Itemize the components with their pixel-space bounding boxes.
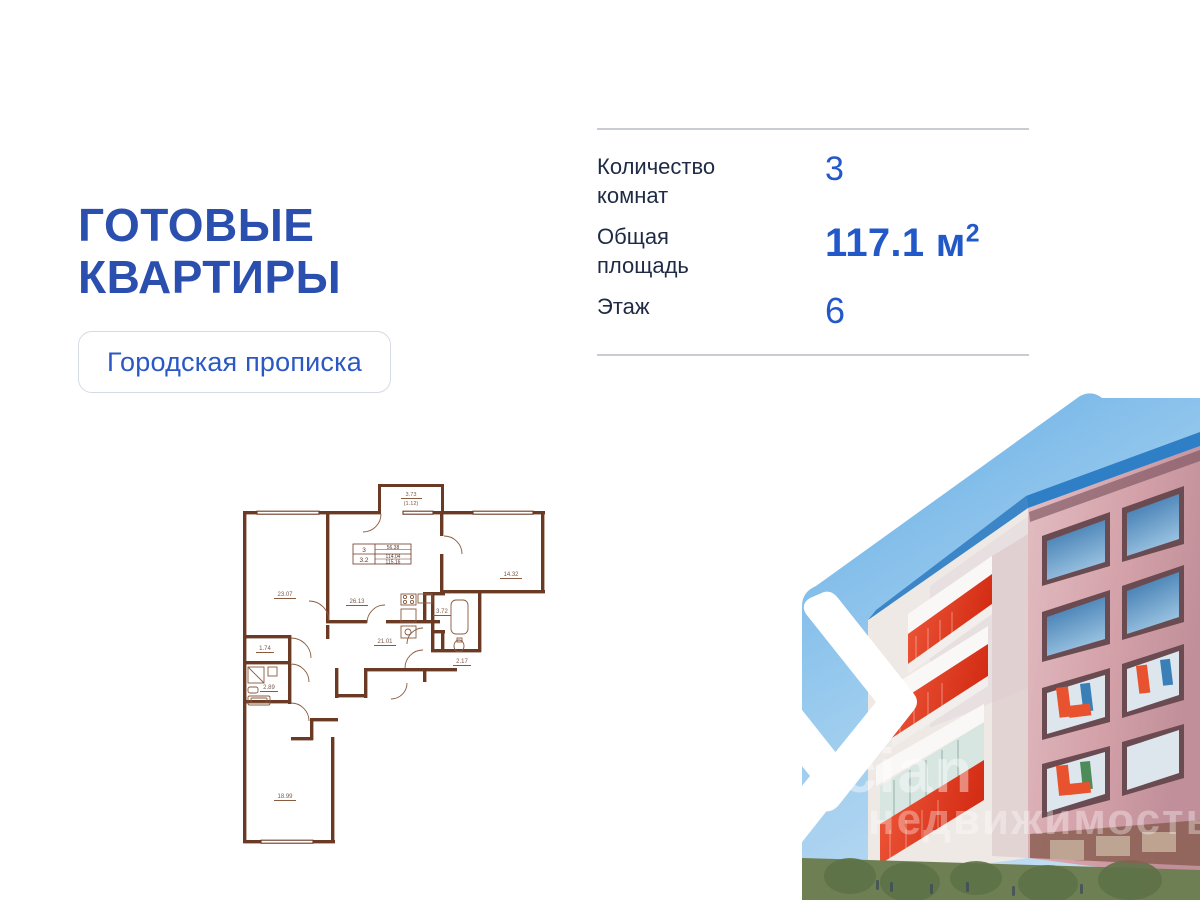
spec-value-area-unit-exponent: 2	[966, 221, 980, 248]
stamp-total-with-balcony: 115.16	[386, 560, 401, 566]
room-area-labels: 23.07 26.13 21.01 14.32 3.72 2.17 1.74 2…	[256, 572, 522, 801]
spec-row-rooms: Количество комнат 3	[597, 146, 1029, 216]
room-area-bedroom-right: 14.32	[503, 572, 519, 578]
plan-stamp: 3 3.2 56.38 114.04 115.16	[353, 544, 411, 566]
stamp-type: 3.2	[359, 557, 368, 564]
specs-panel: Количество комнат 3 Общая площадь 117.1 …	[597, 128, 1029, 356]
headline-block: ГОТОВЫЕ КВАРТИРЫ Городская прописка	[78, 200, 518, 393]
spec-value-rooms: 3	[825, 152, 1029, 188]
room-area-closet: 1.74	[259, 646, 271, 652]
building-photo[interactable]: cian недвижимость	[780, 388, 1200, 900]
room-area-living-room-left: 23.07	[277, 592, 293, 598]
balcony-area-label: 3.73	[406, 492, 417, 498]
listing-card: ГОТОВЫЕ КВАРТИРЫ Городская прописка Коли…	[0, 0, 1200, 900]
stamp-rooms: 3	[362, 547, 366, 554]
spec-divider-bottom	[597, 354, 1029, 356]
spec-rows: Количество комнат 3 Общая площадь 117.1 …	[597, 130, 1029, 354]
spec-value-floor: 6	[825, 292, 1029, 330]
spec-label-area: Общая площадь	[597, 222, 825, 280]
room-area-bathroom: 2.89	[263, 685, 275, 691]
room-area-bedroom-lower: 18.99	[277, 794, 293, 800]
spec-row-area: Общая площадь 117.1 м2	[597, 216, 1029, 286]
page-title: ГОТОВЫЕ КВАРТИРЫ	[78, 200, 518, 303]
spec-label-floor: Этаж	[597, 292, 825, 321]
status-badge-label: Городская прописка	[107, 347, 362, 378]
room-area-hall-upper: 26.13	[349, 599, 365, 605]
room-area-kitchen-bath: 3.72	[436, 609, 448, 615]
stamp-living-area: 56.38	[387, 545, 400, 551]
status-badge[interactable]: Городская прописка	[78, 331, 391, 393]
spec-value-area-number: 117.1 м	[825, 221, 966, 265]
spec-value-area: 117.1 м2	[825, 222, 1029, 264]
floorplan[interactable]: .w { fill: #6B3A25; } .wn { fill: #fffff…	[235, 478, 565, 858]
room-area-wc: 2.17	[456, 659, 468, 665]
spec-label-rooms: Количество комнат	[597, 152, 825, 210]
room-area-corridor: 21.01	[377, 639, 393, 645]
balcony-coefficient-label: (1.12)	[404, 501, 419, 507]
floorplan-drawing: .w { fill: #6B3A25; } .wn { fill: #fffff…	[235, 478, 565, 858]
spec-row-floor: Этаж 6	[597, 286, 1029, 344]
building-photo-image	[780, 388, 1200, 900]
